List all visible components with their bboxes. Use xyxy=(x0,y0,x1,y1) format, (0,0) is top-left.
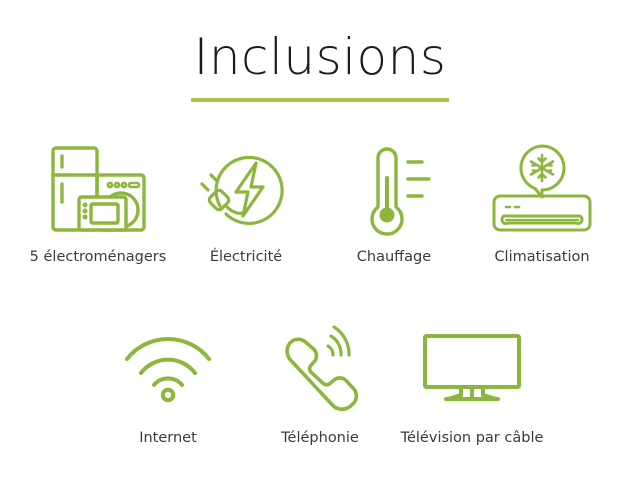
inclusion-item-air-conditioning[interactable]: Climatisation xyxy=(468,140,616,266)
wifi-icon xyxy=(122,325,214,411)
telephone-icon xyxy=(274,325,366,411)
page-title-block: Inclusions xyxy=(0,28,640,102)
appliances-icon xyxy=(45,140,151,236)
slide-canvas: Inclusions xyxy=(0,0,640,480)
inclusion-label-heating: Chauffage xyxy=(357,248,431,266)
inclusion-label-internet: Internet xyxy=(139,429,197,447)
inclusion-label-television: Télévision par câble xyxy=(401,429,544,447)
inclusion-item-electricity[interactable]: Électricité xyxy=(172,140,320,266)
inclusion-item-appliances[interactable]: 5 électroménagers xyxy=(24,140,172,266)
inclusion-label-telephone: Téléphonie xyxy=(281,429,359,447)
inclusion-item-television[interactable]: Télévision par câble xyxy=(396,325,548,447)
title-underline-rule xyxy=(191,98,449,102)
television-icon xyxy=(420,325,524,411)
thermometer-icon xyxy=(351,140,437,236)
page-title: Inclusions xyxy=(0,28,640,86)
inclusion-label-air-conditioning: Climatisation xyxy=(494,248,589,266)
inclusions-row-bottom: Internet Téléphonie xyxy=(0,325,640,447)
inclusion-item-internet[interactable]: Internet xyxy=(92,325,244,447)
inclusion-label-appliances: 5 électroménagers xyxy=(30,248,167,266)
inclusions-row-top: 5 électroménagers Électri xyxy=(0,140,640,266)
inclusion-label-electricity: Électricité xyxy=(210,248,282,266)
inclusion-item-telephone[interactable]: Téléphonie xyxy=(244,325,396,447)
electricity-plug-icon xyxy=(200,140,292,236)
air-conditioner-icon xyxy=(485,140,599,236)
inclusion-item-heating[interactable]: Chauffage xyxy=(320,140,468,266)
